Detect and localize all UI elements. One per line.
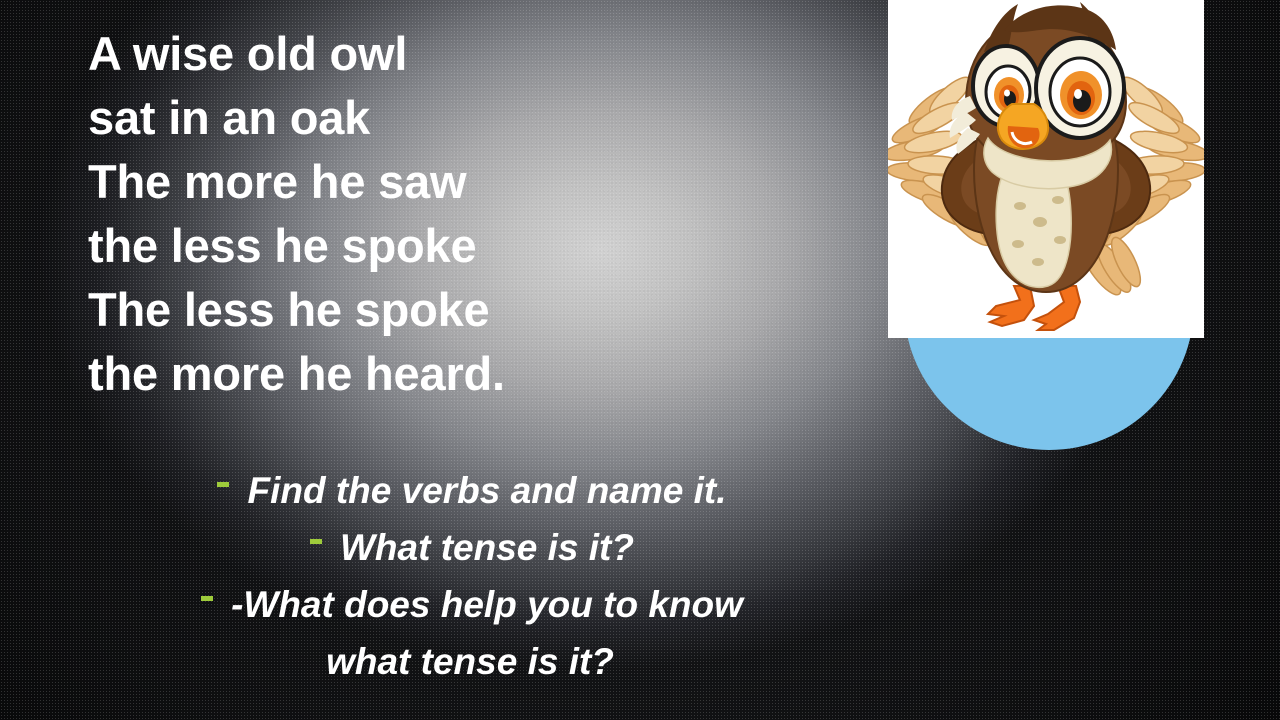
poem-line: The more he saw [88,150,708,214]
questions-block: Find the verbs and name it. What tense i… [50,462,890,690]
owl-beak [998,104,1048,149]
slide-canvas: A wise old owl sat in an oak The more he… [0,0,1280,720]
poem-line: sat in an oak [88,86,708,150]
question-text: What tense is it? [340,527,634,568]
poem-block: A wise old owl sat in an oak The more he… [88,22,708,406]
question-text: -What does help you to know [231,584,743,625]
poem-line: The less he spoke [88,278,708,342]
dash-bullet-icon [310,539,322,544]
poem-line: A wise old owl [88,22,708,86]
question-item: What tense is it? [50,519,890,576]
owl-right-eye [1036,38,1124,138]
dash-bullet-icon [201,596,213,601]
dash-bullet-icon [217,482,229,487]
question-item: -What does help you to know [50,576,890,633]
poem-line: the less he spoke [88,214,708,278]
cartoon-owl-illustration [888,0,1204,338]
question-text: what tense is it? [326,641,614,682]
owl-image-frame [888,0,1204,338]
question-item: Find the verbs and name it. [50,462,890,519]
question-text: Find the verbs and name it. [247,470,726,511]
poem-line: the more he heard. [88,342,708,406]
question-item: what tense is it? [50,633,890,690]
